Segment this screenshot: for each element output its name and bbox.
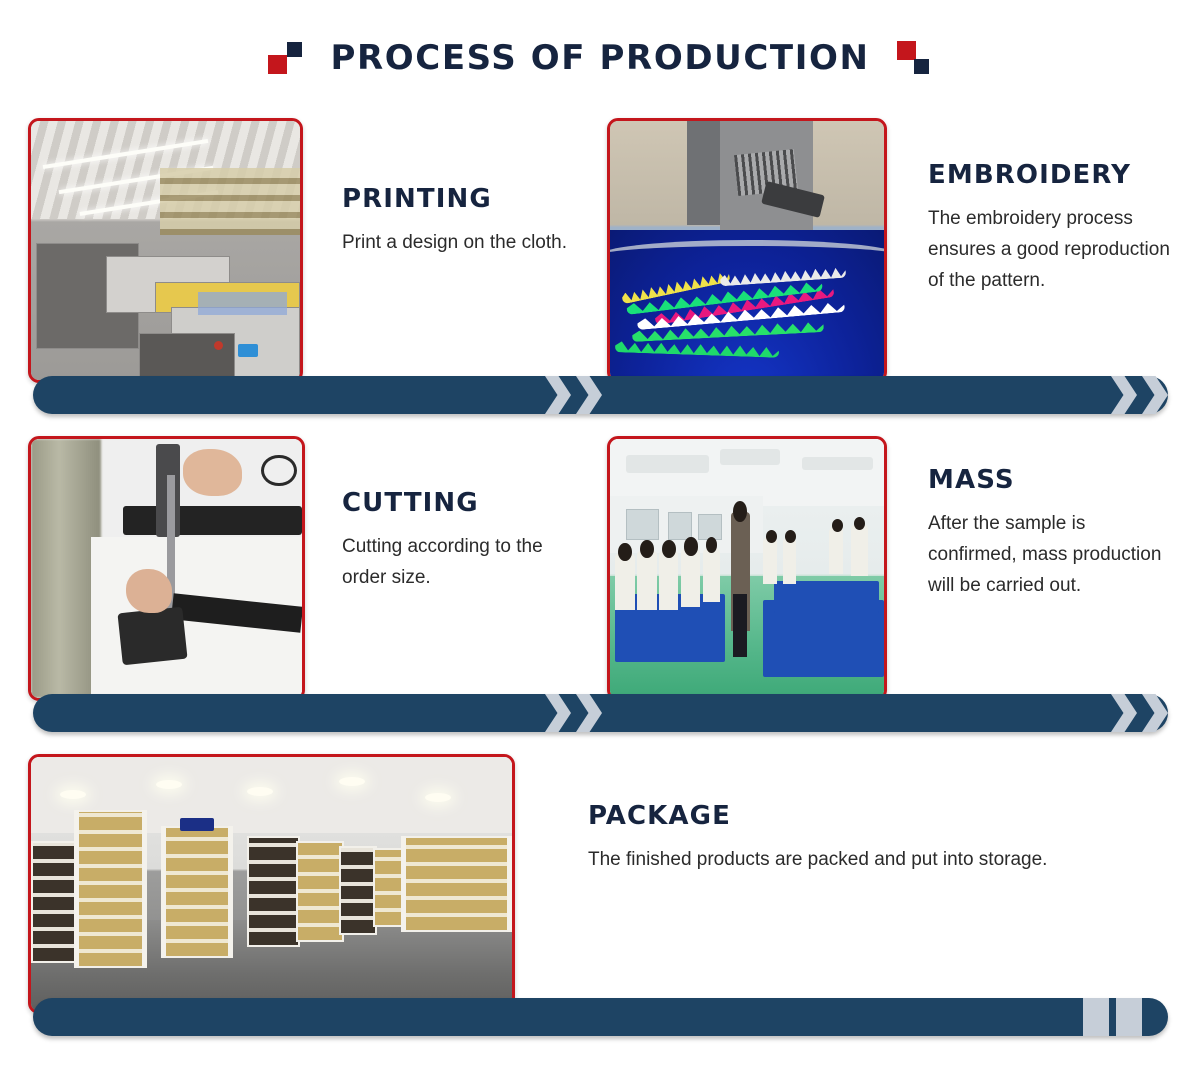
chevron-pair-icon-end (1111, 694, 1168, 732)
step-text-package: PACKAGE The finished products are packed… (588, 801, 1088, 876)
progress-bar-row-1 (33, 376, 1168, 414)
infographic-page: PROCESS OF PRODUCTION (0, 0, 1200, 1091)
step-image-printing (28, 118, 303, 383)
chevron-right-icon (545, 376, 571, 414)
step-text-mass: MASS After the sample is confirmed, mass… (928, 465, 1168, 601)
page-title-row: PROCESS OF PRODUCTION (0, 38, 1200, 78)
step-text-embroidery: EMBROIDERY The embroidery process ensure… (928, 160, 1176, 296)
step-heading-cutting: CUTTING (342, 488, 592, 518)
chevron-right-icon (1111, 694, 1137, 732)
step-heading-embroidery: EMBROIDERY (928, 160, 1176, 190)
step-text-cutting: CUTTING Cutting according to the order s… (342, 488, 592, 594)
page-title: PROCESS OF PRODUCTION (330, 38, 869, 78)
step-heading-printing: PRINTING (342, 184, 582, 214)
chevron-right-icon (576, 694, 602, 732)
step-image-package (28, 754, 515, 1014)
step-heading-package: PACKAGE (588, 801, 1088, 831)
block-pair-icon-end (1083, 998, 1142, 1036)
step-heading-mass: MASS (928, 465, 1168, 495)
step-description-embroidery: The embroidery process ensures a good re… (928, 204, 1176, 296)
process-row-2: CUTTING Cutting according to the order s… (0, 430, 1200, 740)
chevron-right-icon (1142, 694, 1168, 732)
square-decoration-icon-left (268, 40, 304, 76)
step-image-mass (607, 436, 887, 701)
chevron-right-icon (545, 694, 571, 732)
progress-bar-row-3 (33, 998, 1168, 1036)
chevron-pair-icon-middle (545, 376, 602, 414)
chevron-right-icon (576, 376, 602, 414)
progress-bar-row-2 (33, 694, 1168, 732)
step-description-printing: Print a design on the cloth. (342, 228, 582, 259)
chevron-pair-icon-end (1111, 376, 1168, 414)
process-row-1: PRINTING Print a design on the cloth. (0, 112, 1200, 422)
step-description-cutting: Cutting according to the order size. (342, 532, 592, 594)
step-description-mass: After the sample is confirmed, mass prod… (928, 509, 1168, 601)
step-text-printing: PRINTING Print a design on the cloth. (342, 184, 582, 259)
process-row-3: PACKAGE The finished products are packed… (0, 748, 1200, 1054)
block-marker-icon (1083, 998, 1109, 1036)
chevron-right-icon (1142, 376, 1168, 414)
chevron-right-icon (1111, 376, 1137, 414)
step-image-cutting (28, 436, 305, 701)
chevron-pair-icon-middle (545, 694, 602, 732)
step-image-embroidery (607, 118, 887, 383)
block-marker-icon (1116, 998, 1142, 1036)
step-description-package: The finished products are packed and put… (588, 845, 1088, 876)
square-decoration-icon-right (896, 40, 932, 76)
